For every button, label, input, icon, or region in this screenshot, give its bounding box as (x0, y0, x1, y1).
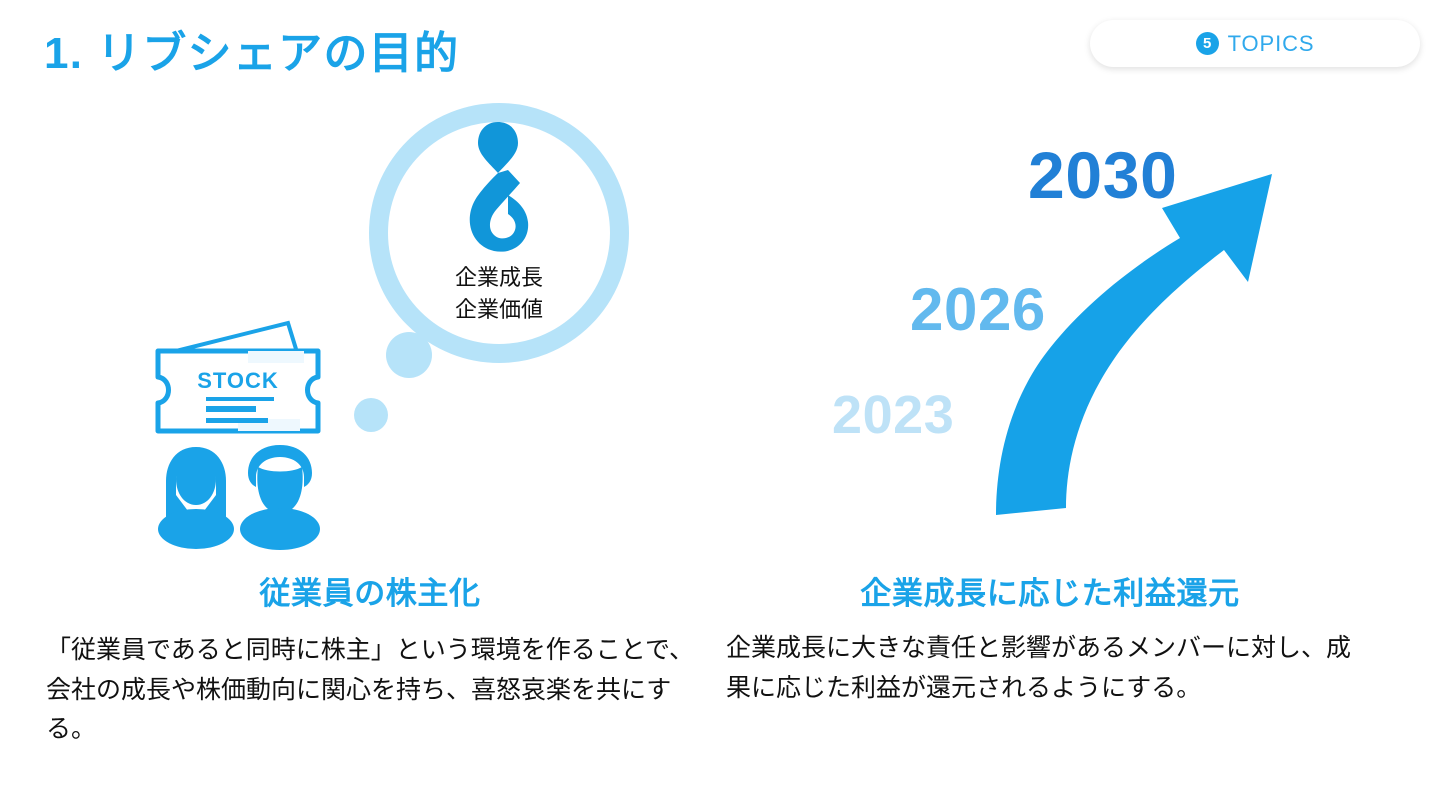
svg-text:STOCK: STOCK (197, 368, 279, 393)
female-silhouette-icon (158, 447, 234, 549)
topics-badge-label: TOPICS (1228, 31, 1315, 57)
year-label-2030: 2030 (1028, 142, 1177, 208)
employee-shareholder-illustration: STOCK (140, 305, 350, 550)
slide-canvas: 1. リブシェアの目的 5 TOPICS 企業成長 企業価値 (0, 0, 1440, 810)
thought-bubble-dot-small (354, 398, 388, 432)
stock-ticket-front: STOCK (158, 351, 318, 431)
topics-badge[interactable]: 5 TOPICS (1090, 20, 1420, 67)
year-label-2023: 2023 (832, 388, 954, 442)
thought-bubble-line-2: 企業価値 (334, 294, 664, 326)
upward-arrow-icon (996, 174, 1272, 515)
year-label-2026: 2026 (910, 280, 1046, 340)
column-employee-shareholder: 従業員の株主化 「従業員であると同時に株主」という環境を作ることで、会社の成長や… (46, 575, 694, 750)
male-silhouette-icon (240, 445, 320, 550)
column-body: 企業成長に大きな責任と影響があるメンバーに対し、成果に応じた利益が還元されるよう… (726, 629, 1374, 708)
page-title: 1. リブシェアの目的 (44, 30, 459, 78)
thought-bubble-line-1: 企業成長 (334, 262, 664, 294)
column-heading: 従業員の株主化 (46, 575, 694, 612)
thought-bubble: 企業成長 企業価値 (334, 96, 664, 456)
thought-bubble-dot-large (386, 332, 432, 378)
column-profit-return: 企業成長に応じた利益還元 企業成長に大きな責任と影響があるメンバーに対し、成果に… (726, 575, 1374, 708)
column-body: 「従業員であると同時に株主」という環境を作ることで、会社の成長や株価動向に関心を… (46, 631, 694, 750)
growth-arrow-illustration: 2023 2026 2030 (810, 130, 1290, 530)
topics-count-circle: 5 (1196, 32, 1219, 55)
libshare-hook-logo-icon (462, 118, 534, 258)
column-heading: 企業成長に応じた利益還元 (726, 575, 1374, 612)
thought-bubble-text: 企業成長 企業価値 (334, 262, 664, 326)
